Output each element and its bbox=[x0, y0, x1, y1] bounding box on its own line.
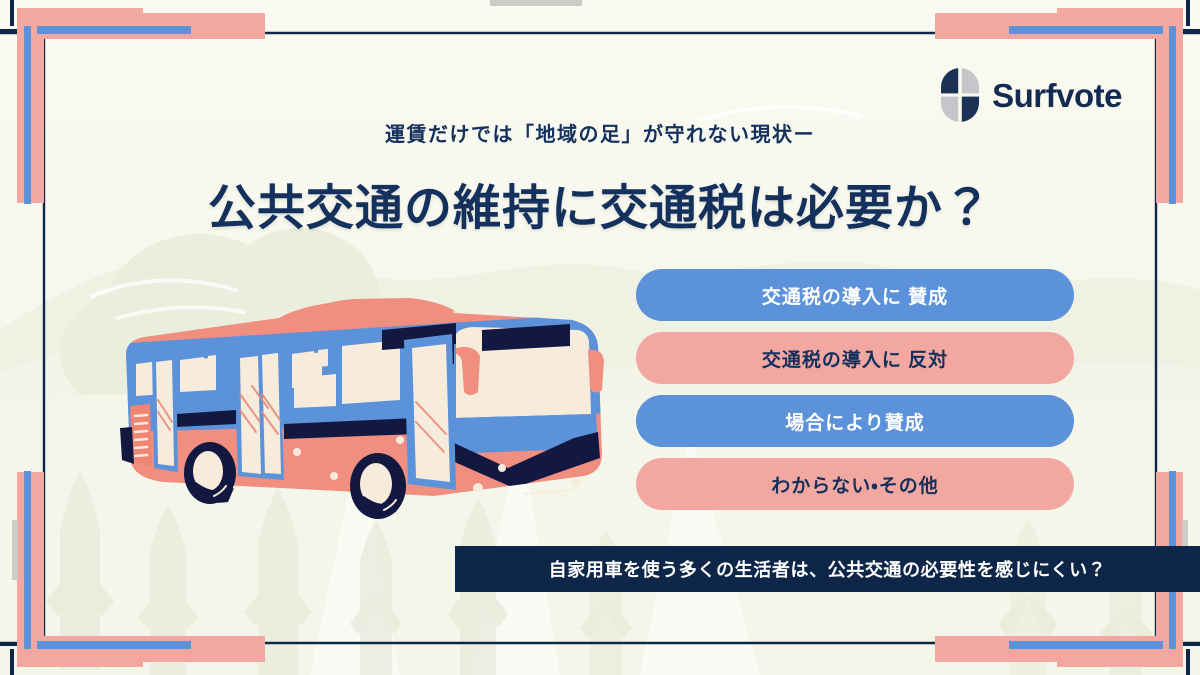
poster-subtitle: 運賃だけでは「地域の足」が守れない現状ー bbox=[0, 118, 1200, 147]
poll-option-4[interactable]: わからない・その他 bbox=[636, 458, 1074, 510]
surfvote-quadrant-logo-icon bbox=[941, 68, 979, 122]
poll-option-1[interactable]: 交通税の導入に 賛成 bbox=[636, 269, 1074, 321]
poster-canvas: Surfvote 運賃だけでは「地域の足」が守れない現状ー 公共交通の維持に交通… bbox=[0, 0, 1200, 675]
poll-option-3[interactable]: 場合により賛成 bbox=[636, 395, 1074, 447]
bottom-question-banner: 自家用車を使う多くの生活者は、公共交通の必要性を感じにくい？ bbox=[455, 546, 1200, 592]
poll-option-2[interactable]: 交通税の導入に 反対 bbox=[636, 332, 1074, 384]
poll-options-list: 交通税の導入に 賛成 交通税の導入に 反対 場合により賛成 わからない・その他 bbox=[636, 269, 1074, 510]
surfvote-logo[interactable]: Surfvote bbox=[941, 68, 1122, 122]
poster-title: 公共交通の維持に交通税は必要か？ bbox=[0, 168, 1200, 238]
bus-rear-panel bbox=[120, 404, 152, 466]
city-bus-illustration bbox=[104, 282, 624, 522]
brand-name: Surfvote bbox=[992, 79, 1122, 112]
